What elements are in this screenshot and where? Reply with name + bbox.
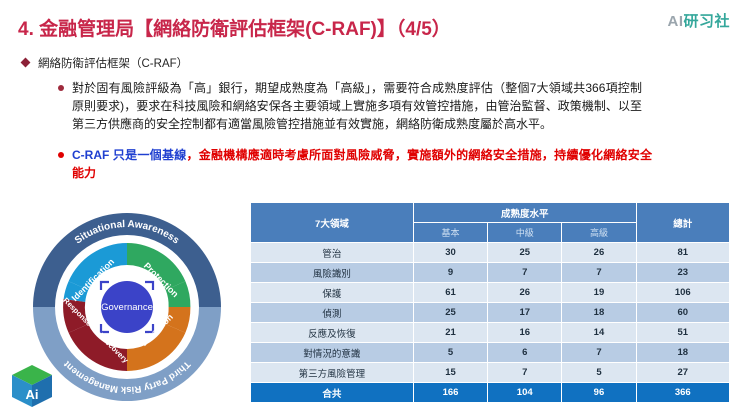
bullet-level2-description: 對於固有風險評級為「高」銀行，期望成熟度為「高級」，需要符合成熟度評估（整個7大… xyxy=(72,79,642,133)
row-intermediate: 17 xyxy=(488,303,562,323)
total-row-label: 合共 xyxy=(251,383,414,403)
row-category: 風險識別 xyxy=(251,263,414,283)
maturity-table-wrapper: 7大領域 成熟度水平 總計 基本 中級 高級 管治 30 25 26 81 xyxy=(250,202,730,403)
row-category: 第三方風險管理 xyxy=(251,363,414,383)
table-header-row-1: 7大領域 成熟度水平 總計 xyxy=(251,203,730,223)
header-maturity-group: 成熟度水平 xyxy=(413,203,636,223)
bullet-level1-text: 網絡防衛評估框架（C-RAF） xyxy=(38,58,188,70)
row-total: 23 xyxy=(636,263,729,283)
bullet-level2-description-text: 對於固有風險評級為「高」銀行，期望成熟度為「高級」，需要符合成熟度評估（整個7大… xyxy=(72,81,642,131)
row-total: 27 xyxy=(636,363,729,383)
table-row: 第三方風險管理 15 7 5 27 xyxy=(251,363,730,383)
brand-logo-cn-text: 研习社 xyxy=(683,13,730,30)
row-basic: 30 xyxy=(413,243,487,263)
table-row: 偵測 25 17 18 60 xyxy=(251,303,730,323)
row-intermediate: 16 xyxy=(488,323,562,343)
cube-logo-text: Ai xyxy=(26,387,39,402)
table-row: 保護 61 26 19 106 xyxy=(251,283,730,303)
row-advanced: 7 xyxy=(562,343,636,363)
row-basic: 61 xyxy=(413,283,487,303)
row-intermediate: 7 xyxy=(488,263,562,283)
row-intermediate: 26 xyxy=(488,283,562,303)
row-total: 81 xyxy=(636,243,729,263)
bullet-level1: 網絡防衛評估框架（C-RAF） xyxy=(38,56,740,72)
row-total: 18 xyxy=(636,343,729,363)
maturity-table: 7大領域 成熟度水平 總計 基本 中級 高級 管治 30 25 26 81 xyxy=(250,202,730,403)
row-total: 106 xyxy=(636,283,729,303)
page-title: 4. 金融管理局【網絡防衛評估框架(C-RAF)】（4/5） xyxy=(18,14,451,41)
table-row: 風險識別 9 7 7 23 xyxy=(251,263,730,283)
total-row-advanced: 96 xyxy=(562,383,636,403)
maturity-table-head: 7大領域 成熟度水平 總計 基本 中級 高級 xyxy=(251,203,730,243)
maturity-table-body: 管治 30 25 26 81 風險識別 9 7 7 23 保護 61 26 xyxy=(251,243,730,403)
table-total-row: 合共 166 104 96 366 xyxy=(251,383,730,403)
body-content: 網絡防衛評估框架（C-RAF） 對於固有風險評級為「高」銀行，期望成熟度為「高級… xyxy=(0,56,740,182)
total-row-basic: 166 xyxy=(413,383,487,403)
row-intermediate: 25 xyxy=(488,243,562,263)
slide-canvas: 4. 金融管理局【網絡防衛評估框架(C-RAF)】（4/5） AI研习社 網絡防… xyxy=(0,0,740,416)
row-total: 51 xyxy=(636,323,729,343)
row-advanced: 26 xyxy=(562,243,636,263)
row-category: 偵測 xyxy=(251,303,414,323)
header-level-advanced: 高級 xyxy=(562,223,636,243)
row-basic: 15 xyxy=(413,363,487,383)
ai-cube-logo: Ai xyxy=(6,362,58,412)
row-category: 對情況的意識 xyxy=(251,343,414,363)
table-row: 管治 30 25 26 81 xyxy=(251,243,730,263)
ai-cube-logo-svg: Ai xyxy=(6,362,58,412)
table-row: 對情況的意識 5 6 7 18 xyxy=(251,343,730,363)
row-advanced: 7 xyxy=(562,263,636,283)
row-advanced: 18 xyxy=(562,303,636,323)
row-total: 60 xyxy=(636,303,729,323)
header-total: 總計 xyxy=(636,203,729,243)
bullet-highlight-blue-text: C-RAF 只是一個基線 xyxy=(72,148,186,162)
header-category: 7大領域 xyxy=(251,203,414,243)
bullet-level2-highlight: C-RAF 只是一個基線，金融機構應適時考慮所面對風險威脅，實施額外的網絡安全措… xyxy=(72,146,652,182)
brand-logo: AI研习社 xyxy=(667,10,730,31)
row-advanced: 19 xyxy=(562,283,636,303)
row-category: 反應及恢復 xyxy=(251,323,414,343)
total-row-intermediate: 104 xyxy=(488,383,562,403)
row-basic: 9 xyxy=(413,263,487,283)
round-bullet-icon xyxy=(58,85,64,91)
brand-logo-ai-text: AI xyxy=(667,13,683,30)
total-row-total: 366 xyxy=(636,383,729,403)
row-category: 管治 xyxy=(251,243,414,263)
row-basic: 5 xyxy=(413,343,487,363)
round-bullet-icon-red xyxy=(58,152,64,158)
row-intermediate: 7 xyxy=(488,363,562,383)
diamond-bullet-icon xyxy=(21,58,31,68)
wheel-center-label: Governance xyxy=(101,302,153,313)
row-advanced: 5 xyxy=(562,363,636,383)
header-level-basic: 基本 xyxy=(413,223,487,243)
row-basic: 21 xyxy=(413,323,487,343)
header-level-intermediate: 中級 xyxy=(488,223,562,243)
row-basic: 25 xyxy=(413,303,487,323)
row-category: 保護 xyxy=(251,283,414,303)
row-advanced: 14 xyxy=(562,323,636,343)
row-intermediate: 6 xyxy=(488,343,562,363)
table-row: 反應及恢復 21 16 14 51 xyxy=(251,323,730,343)
